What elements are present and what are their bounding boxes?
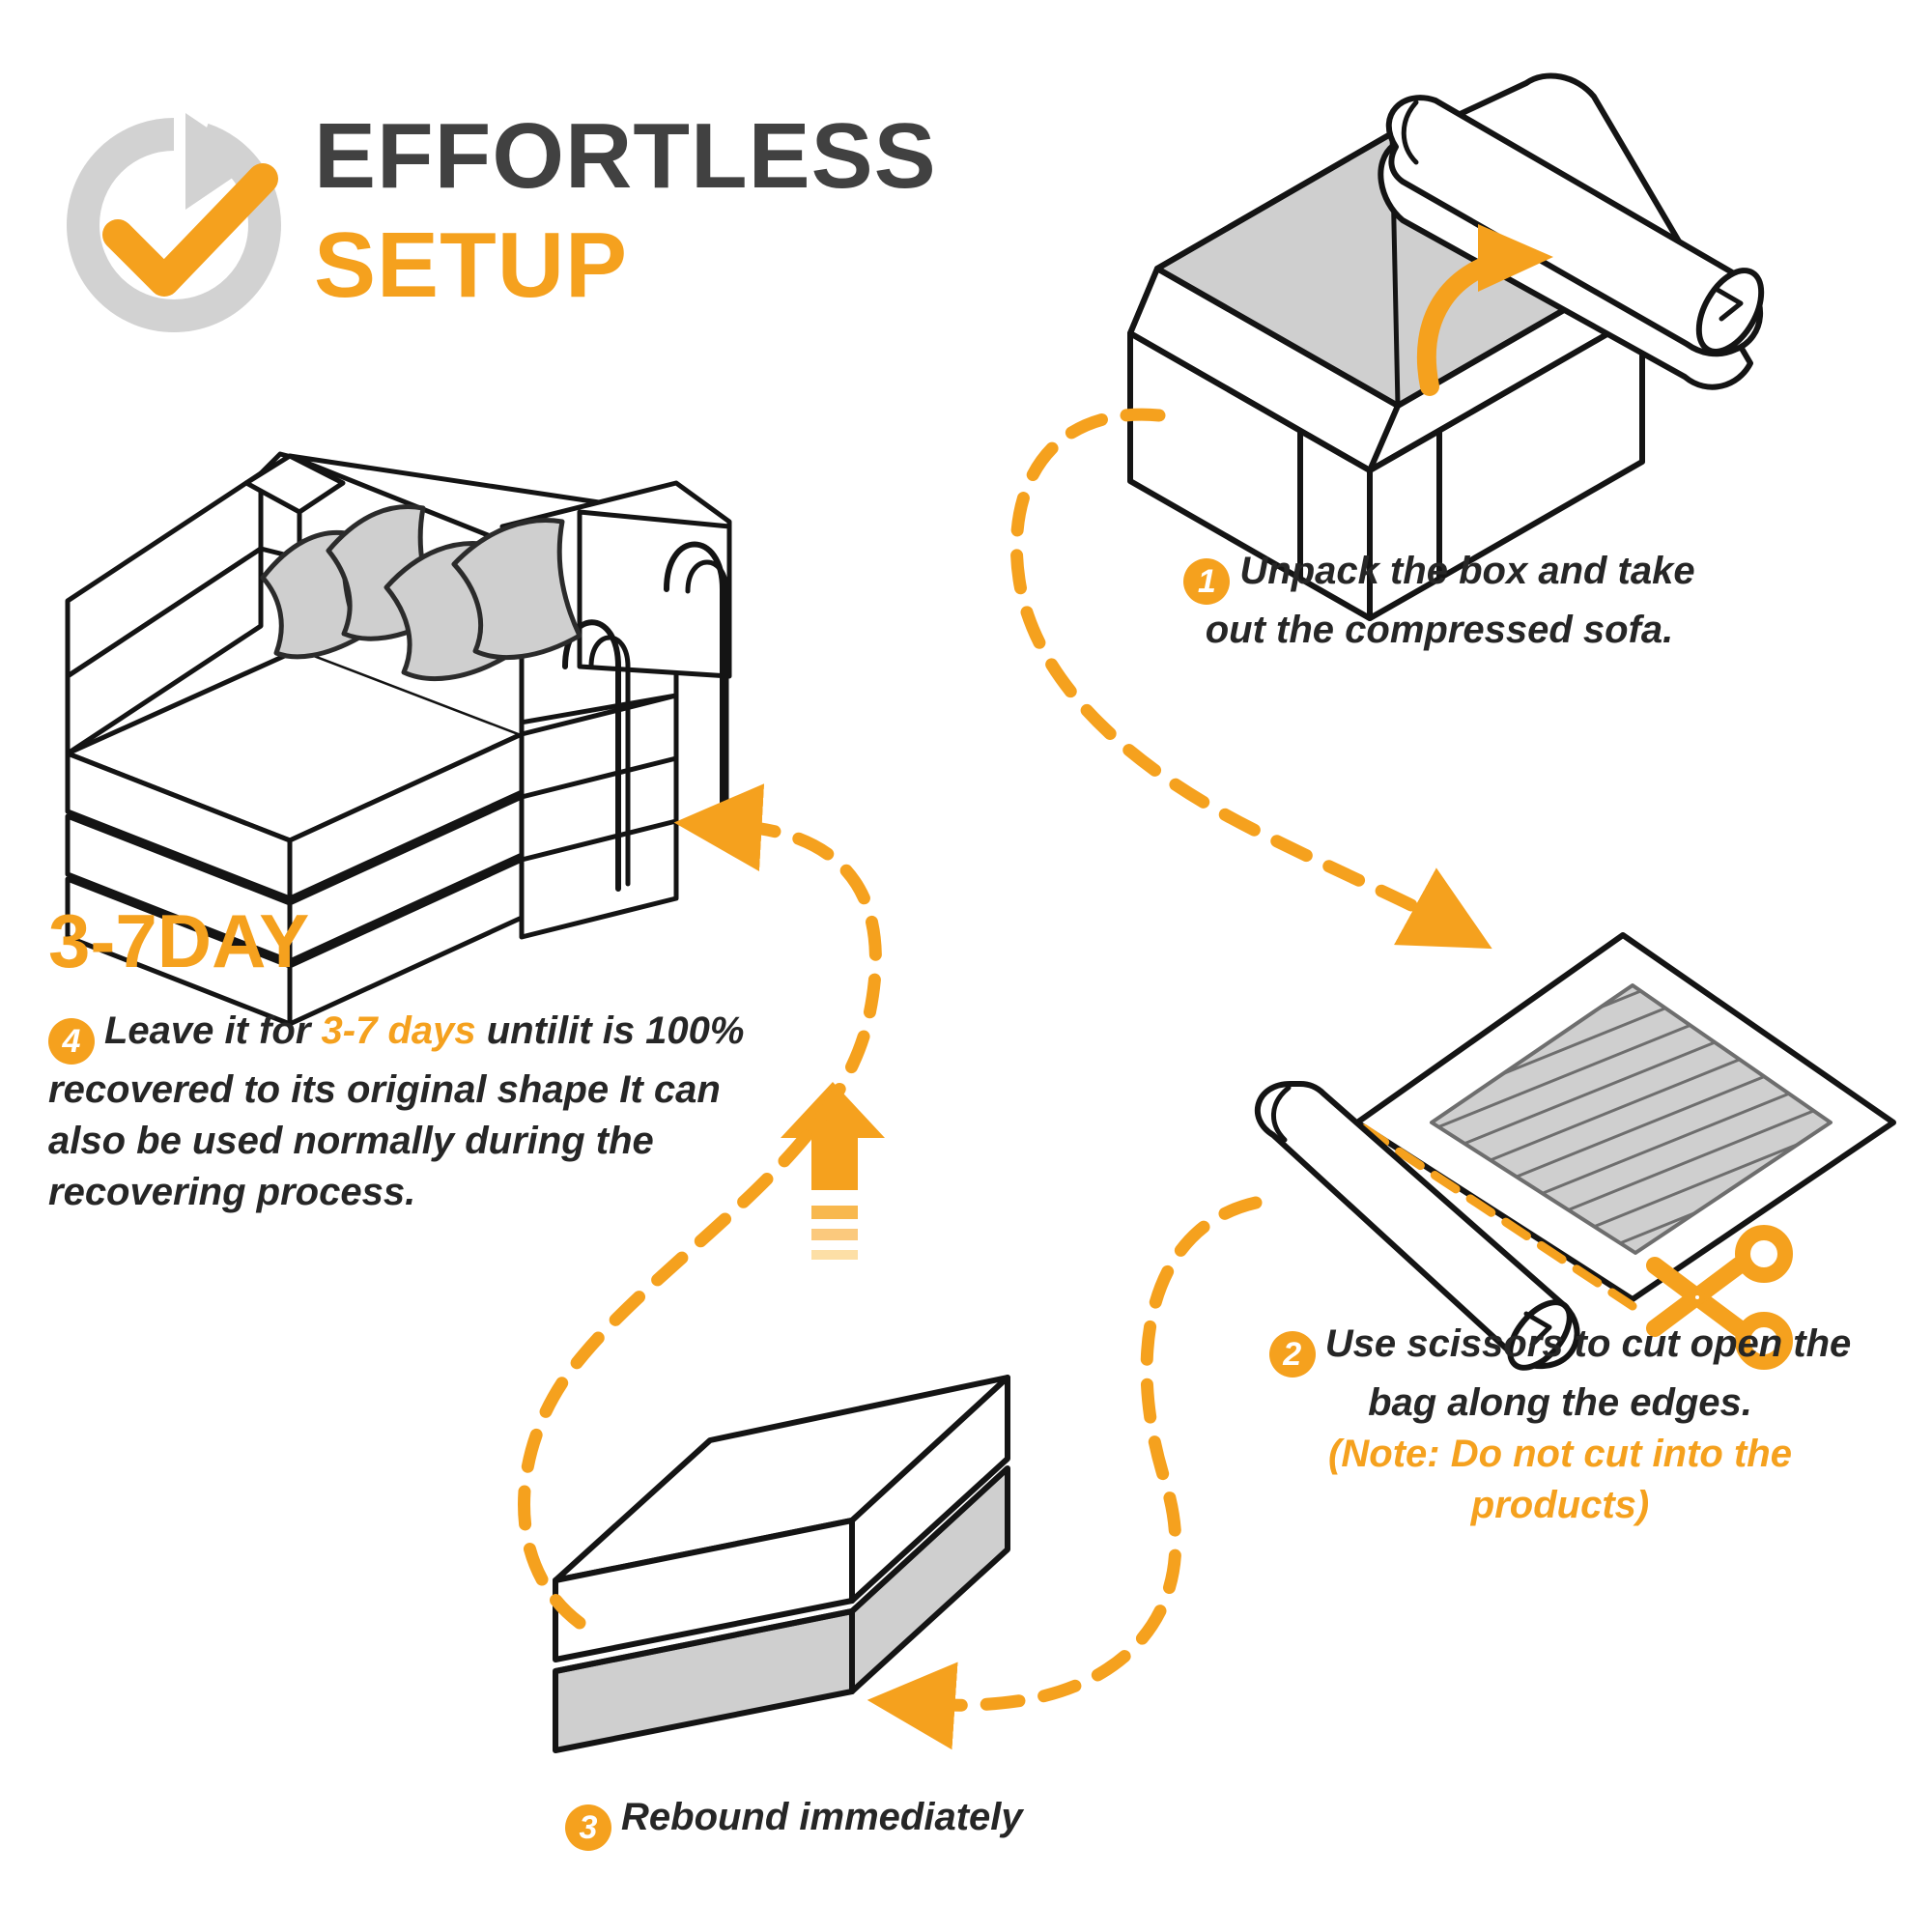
step-1-caption: 1Unpack the box and take out the compres… (1169, 546, 1710, 656)
step-4-badge: 4 (48, 1018, 95, 1065)
sofa-pillows (263, 507, 580, 679)
infographic-page: EFFORTLESS SETUP 1Unpack the box and tak… (0, 0, 1932, 1932)
step-3-caption: 3Rebound immediately (565, 1792, 971, 1851)
step-4-block: 3-7DAY 4Leave it for 3-7 days untilit is… (48, 903, 753, 1217)
step-1-text: Unpack the box and take out the compress… (1206, 550, 1695, 651)
header: EFFORTLESS SETUP (58, 101, 1043, 343)
title-line-main: EFFORTLESS (314, 101, 937, 211)
step-3-badge: 3 (565, 1804, 611, 1851)
step-2-caption: 2Use scissors to cut open the bag along … (1246, 1319, 1874, 1530)
duration-heading: 3-7DAY (48, 903, 753, 979)
step-4-text-part1: Leave it for (104, 1009, 322, 1052)
page-title: EFFORTLESS SETUP (314, 101, 937, 321)
step-4-caption: 4Leave it for 3-7 days untilit is 100% r… (48, 1006, 753, 1217)
step-2-note: (Note: Do not cut into the products) (1246, 1429, 1874, 1531)
step-2-badge: 2 (1269, 1331, 1316, 1378)
circular-arrow-check-icon (58, 109, 290, 341)
illustration-foam-block (555, 1377, 1008, 1750)
step-2-text: Use scissors to cut open the bag along t… (1325, 1322, 1852, 1424)
step-3-text: Rebound immediately (621, 1796, 1023, 1838)
step-4-highlight: 3-7 days (322, 1009, 476, 1052)
step-1-badge: 1 (1183, 558, 1230, 605)
title-line-accent: SETUP (314, 211, 937, 320)
